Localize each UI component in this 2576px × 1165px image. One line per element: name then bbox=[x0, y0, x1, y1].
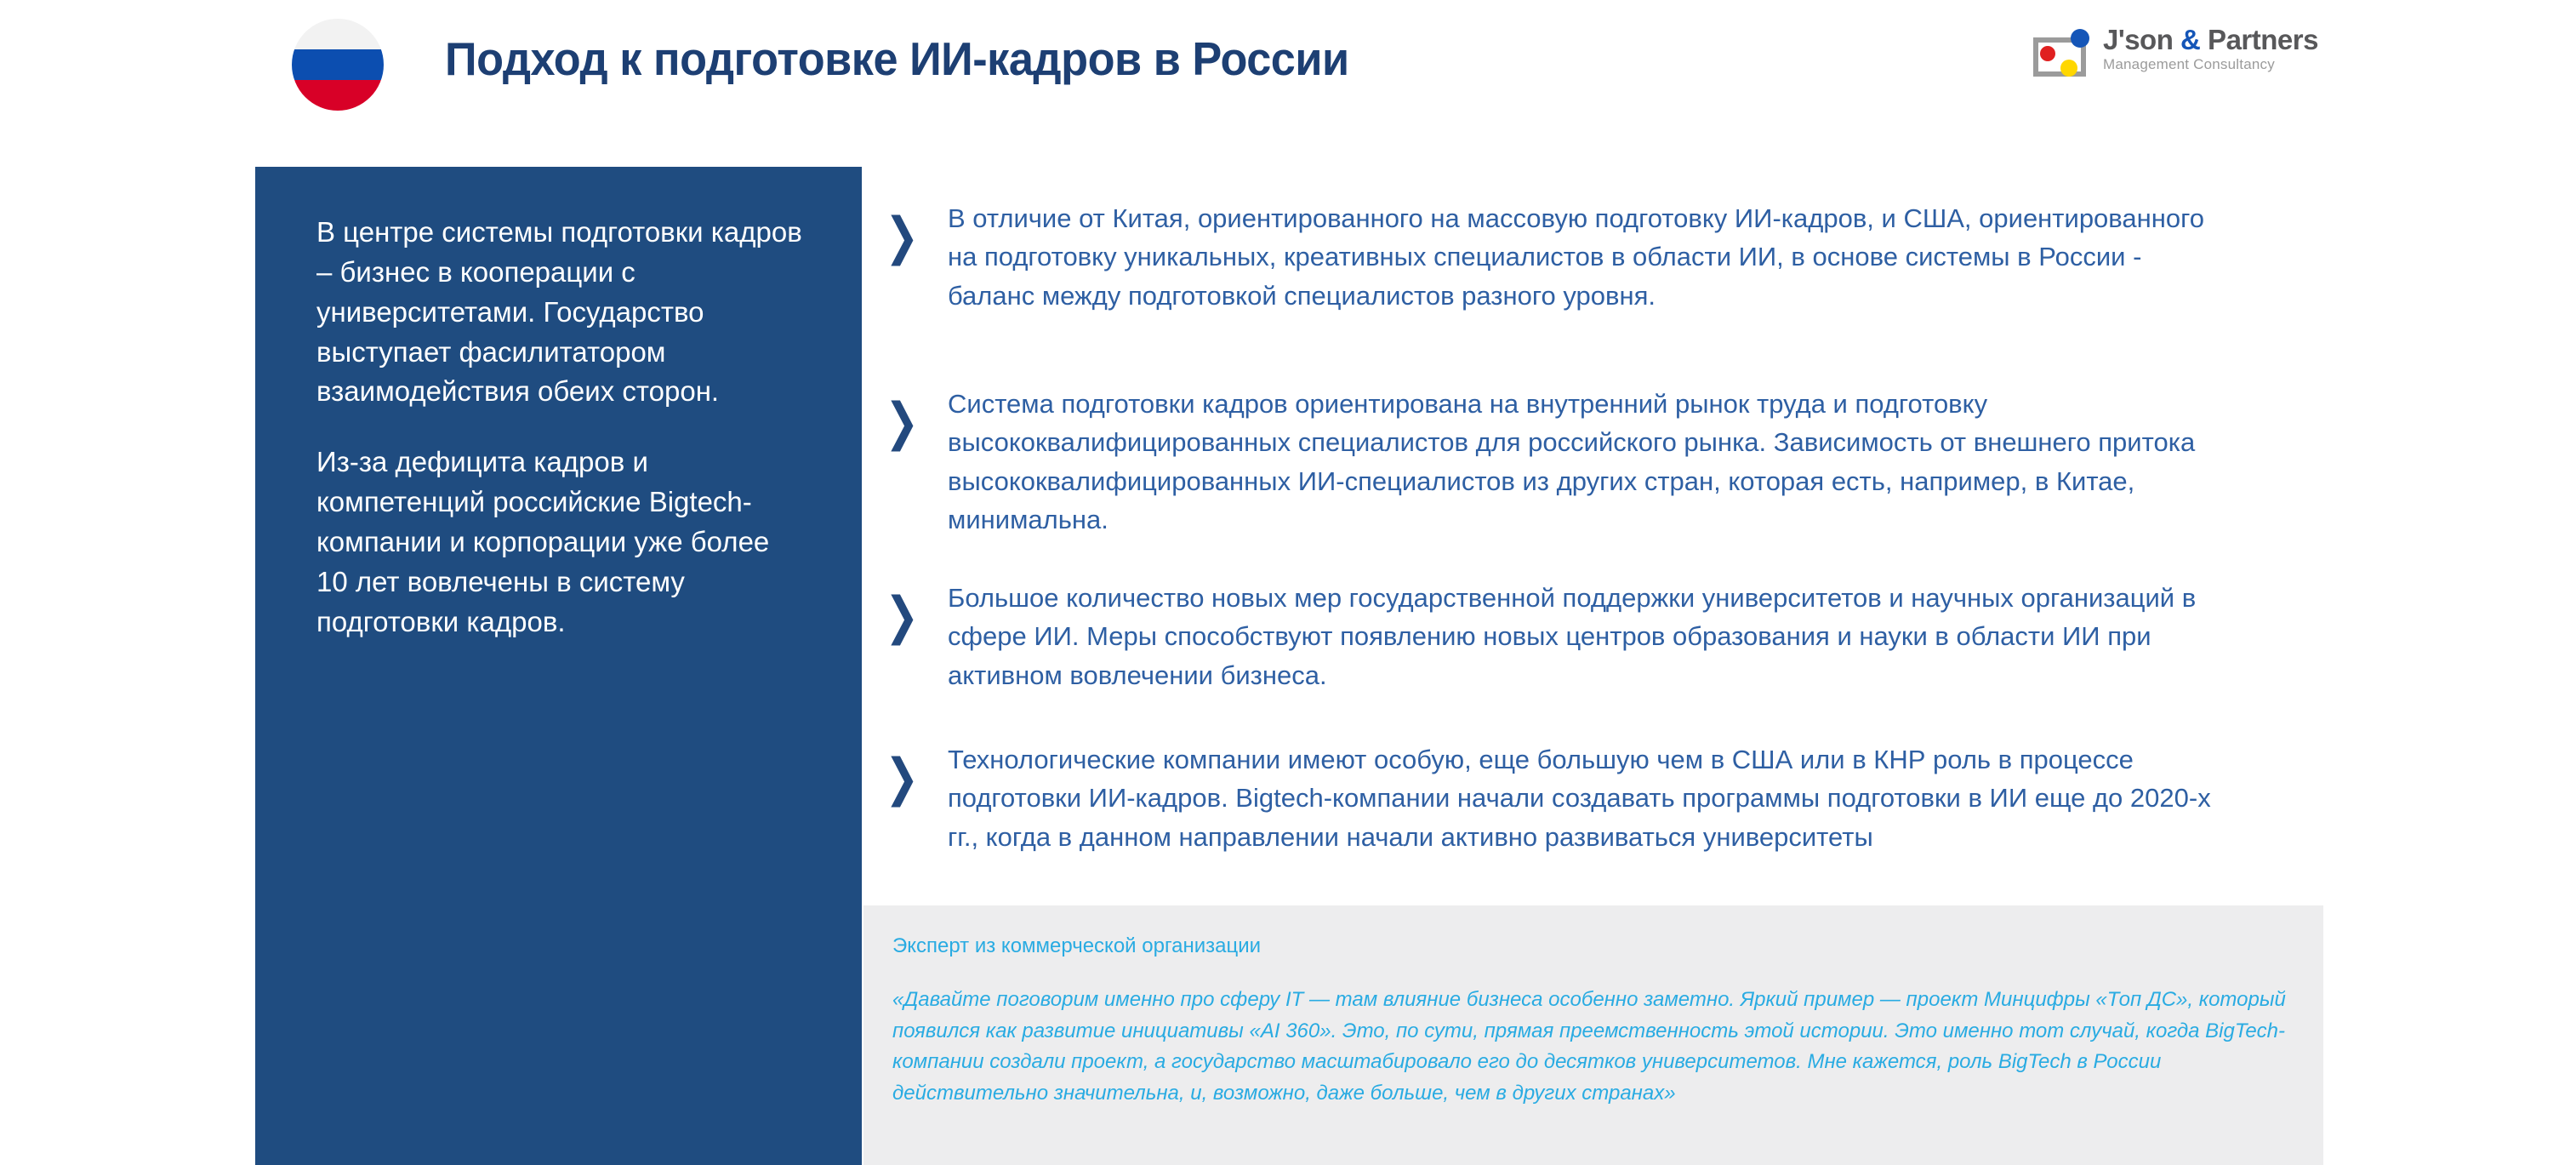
quote-text: «Давайте поговорим именно про сферу IT —… bbox=[892, 985, 2293, 1109]
slide-header: Подход к подготовке ИИ-кадров в России J… bbox=[0, 0, 2576, 166]
logo-dot-red bbox=[2040, 46, 2055, 61]
chevron-right-icon: ❯ bbox=[885, 575, 935, 637]
bullet-item: ❯ В отличие от Китая, ориентированного н… bbox=[885, 196, 2212, 381]
flag-band-white bbox=[292, 19, 384, 49]
chevron-right-icon: ❯ bbox=[885, 381, 935, 443]
bullet-text: Технологические компании имеют особую, е… bbox=[948, 737, 2212, 856]
bullet-text: Большое количество новых мер государстве… bbox=[948, 575, 2212, 694]
bullet-item: ❯ Большое количество новых мер государст… bbox=[885, 575, 2212, 737]
logo-ampersand: & bbox=[2180, 24, 2200, 55]
company-logo: J'son & Partners Management Consultancy bbox=[2032, 20, 2304, 87]
chevron-right-icon: ❯ bbox=[885, 737, 935, 798]
expert-quote-box: Эксперт из коммерческой организации «Дав… bbox=[863, 905, 2323, 1165]
logo-name-part1: J'son bbox=[2103, 24, 2180, 55]
flag-band-red bbox=[292, 80, 384, 111]
logo-name-part2: Partners bbox=[2200, 24, 2318, 55]
logo-dot-blue bbox=[2071, 29, 2089, 48]
logo-mark-icon bbox=[2032, 29, 2098, 78]
logo-tagline: Management Consultancy bbox=[2103, 57, 2318, 73]
bullet-text: Система подготовки кадров ориентирована … bbox=[948, 381, 2212, 539]
flag-band-blue bbox=[292, 49, 384, 80]
left-summary-panel: В центре системы подготовки кадров – биз… bbox=[255, 167, 862, 1165]
chevron-right-icon: ❯ bbox=[885, 196, 935, 257]
logo-company-name: J'son & Partners bbox=[2103, 26, 2318, 55]
left-panel-paragraph-2: Из-за дефицита кадров и компетенций росс… bbox=[316, 443, 802, 642]
bullet-item: ❯ Система подготовки кадров ориентирован… bbox=[885, 381, 2212, 575]
quote-source-label: Эксперт из коммерческой организации bbox=[892, 933, 2293, 959]
page-title: Подход к подготовке ИИ-кадров в России bbox=[445, 36, 1349, 83]
bullet-item: ❯ Технологические компании имеют особую,… bbox=[885, 737, 2212, 899]
bullet-text: В отличие от Китая, ориентированного на … bbox=[948, 196, 2212, 315]
left-panel-paragraph-1: В центре системы подготовки кадров – биз… bbox=[316, 213, 802, 412]
russia-flag-circle-icon bbox=[292, 19, 384, 111]
logo-wordmark: J'son & Partners Management Consultancy bbox=[2103, 26, 2318, 72]
bullet-list: ❯ В отличие от Китая, ориентированного н… bbox=[885, 196, 2212, 899]
logo-dot-yellow bbox=[2060, 60, 2077, 77]
